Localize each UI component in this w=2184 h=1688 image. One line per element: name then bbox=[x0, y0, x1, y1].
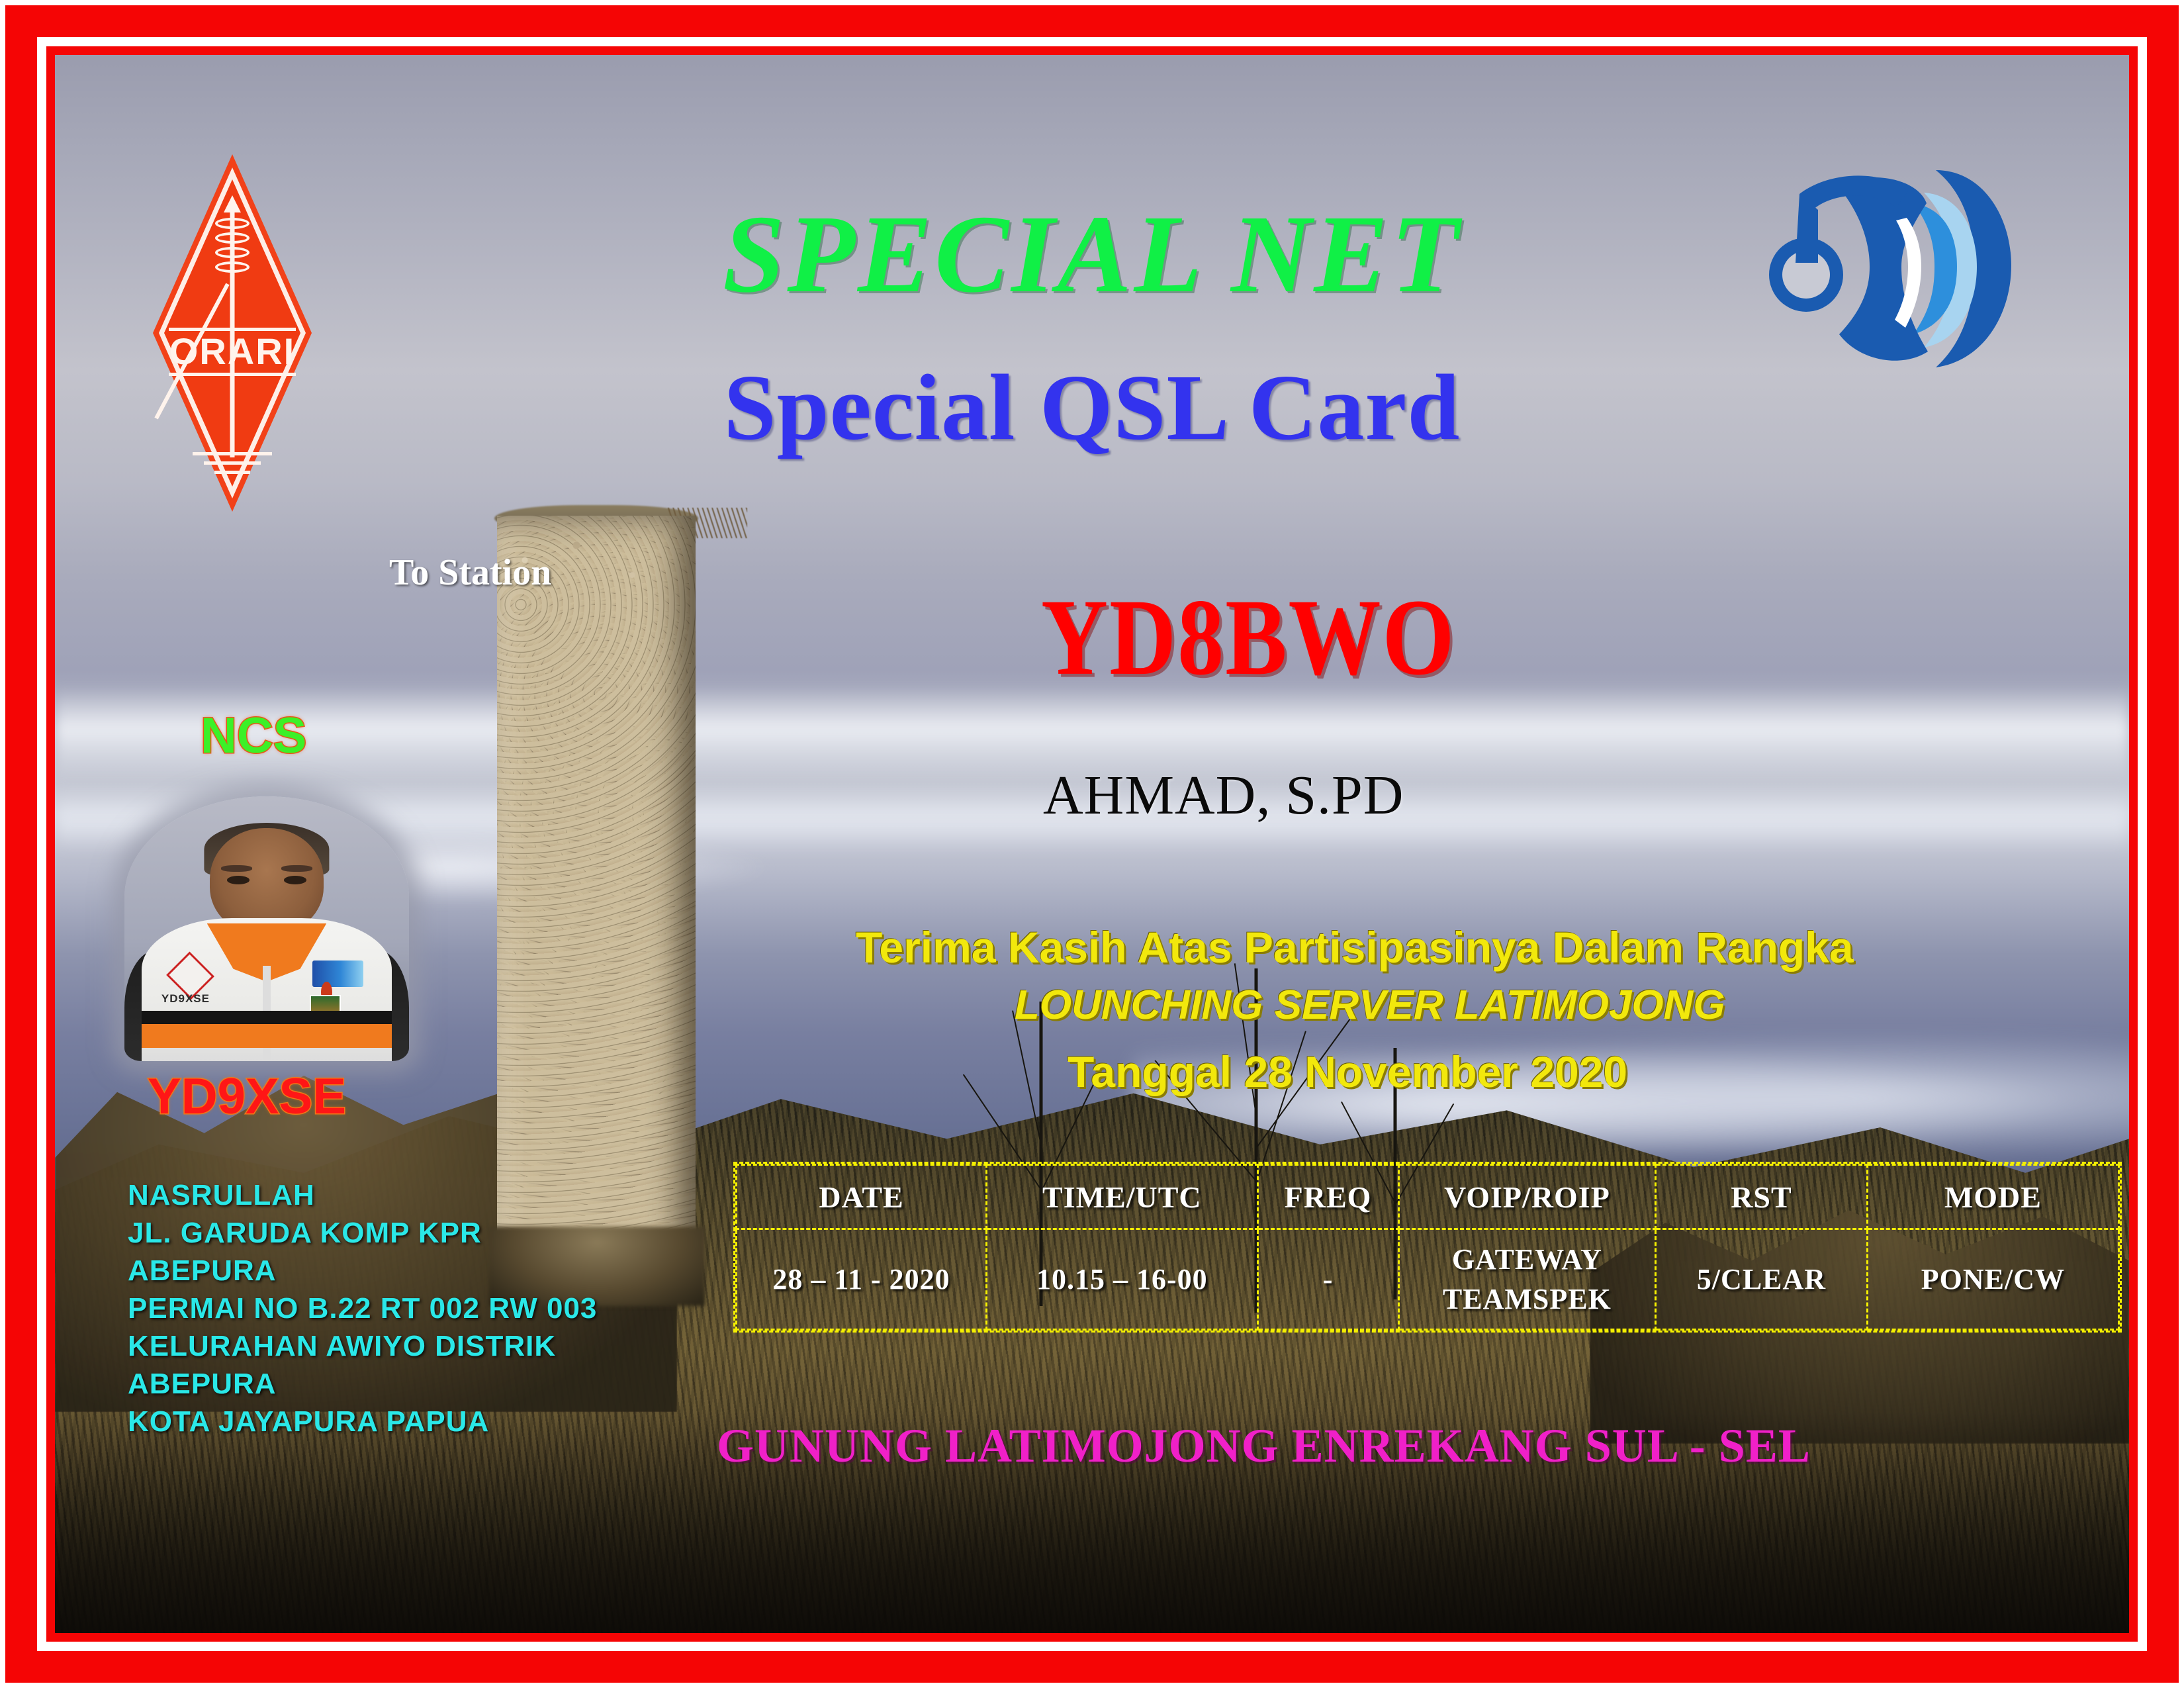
column-header-rst: RST bbox=[1656, 1165, 1868, 1229]
address-line: ABEPURA bbox=[128, 1365, 597, 1403]
station-address: NASRULLAH JL. GARUDA KOMP KPR ABEPURA PE… bbox=[128, 1176, 597, 1440]
event-line: LOUNCHING SERVER LATIMOJONG bbox=[1015, 982, 1725, 1029]
column-header-time: TIME/UTC bbox=[987, 1165, 1257, 1229]
portrait-eye-left bbox=[227, 876, 250, 884]
table-row: 28 – 11 - 2020 10.15 – 16-00 - GATEWAY T… bbox=[737, 1229, 2119, 1330]
recipient-callsign: YD8BWO bbox=[1041, 575, 1455, 700]
cell-freq: - bbox=[1257, 1229, 1398, 1330]
uniform-black-stripe bbox=[142, 1011, 392, 1024]
thanks-line: Terima Kasih Atas Partisipasinya Dalam R… bbox=[856, 922, 1854, 972]
cell-voip-line2: TEAMSPEK bbox=[1443, 1283, 1612, 1315]
uniform-orange-stripe bbox=[142, 1024, 392, 1048]
uniform-patch-callsign: YD9XSE bbox=[161, 992, 210, 1006]
event-date-line: Tanggal 28 November 2020 bbox=[1068, 1047, 1627, 1097]
page-title: SPECIAL NET bbox=[55, 191, 2129, 318]
qsl-card: ORARI SPECIAL NET Special QSL Card To St… bbox=[0, 0, 2184, 1688]
address-line: KELURAHAN AWIYO DISTRIK bbox=[128, 1327, 597, 1365]
cell-voip: GATEWAY TEAMSPEK bbox=[1398, 1229, 1656, 1330]
cell-time: 10.15 – 16-00 bbox=[987, 1229, 1257, 1330]
table-header-row: DATE TIME/UTC FREQ VOIP/ROIP RST MODE bbox=[737, 1165, 2119, 1229]
tree-branch bbox=[1012, 1011, 1042, 1148]
address-line: PERMAI NO B.22 RT 002 RW 003 bbox=[128, 1289, 597, 1327]
cell-date: 28 – 11 - 2020 bbox=[737, 1229, 987, 1330]
column-header-freq: FREQ bbox=[1257, 1165, 1398, 1229]
ncs-callsign: YD9XSE bbox=[148, 1068, 346, 1125]
location-line: GUNUNG LATIMOJONG ENREKANG SUL - SEL bbox=[717, 1419, 1811, 1474]
column-header-voip: VOIP/ROIP bbox=[1398, 1165, 1656, 1229]
address-line: JL. GARUDA KOMP KPR bbox=[128, 1214, 597, 1252]
ncs-operator-photo: YD9XSE bbox=[124, 796, 409, 1061]
qso-log-table: DATE TIME/UTC FREQ VOIP/ROIP RST MODE 28… bbox=[733, 1162, 2122, 1333]
column-header-mode: MODE bbox=[1867, 1165, 2118, 1229]
operator-name: AHMAD, S.PD bbox=[1043, 763, 1404, 827]
portrait-eye-right bbox=[284, 876, 306, 884]
address-line: KOTA JAYAPURA PAPUA bbox=[128, 1403, 597, 1440]
address-line: NASRULLAH bbox=[128, 1176, 597, 1214]
portrait-eyebrow-left bbox=[221, 865, 252, 872]
cell-voip-line1: GATEWAY bbox=[1452, 1243, 1602, 1276]
card-photo-area: ORARI SPECIAL NET Special QSL Card To St… bbox=[55, 55, 2129, 1633]
pillar-masonry bbox=[497, 516, 696, 1257]
portrait-eyebrow-right bbox=[281, 865, 312, 872]
cell-mode: PONE/CW bbox=[1867, 1229, 2118, 1330]
to-station-label: To Station bbox=[389, 551, 551, 594]
cell-rst: 5/CLEAR bbox=[1656, 1229, 1868, 1330]
column-header-date: DATE bbox=[737, 1165, 987, 1229]
subtitle: Special QSL Card bbox=[55, 353, 2129, 461]
address-line: ABEPURA bbox=[128, 1252, 597, 1289]
ncs-label: NCS bbox=[201, 707, 306, 765]
uniform-org-logo-icon bbox=[312, 961, 363, 987]
